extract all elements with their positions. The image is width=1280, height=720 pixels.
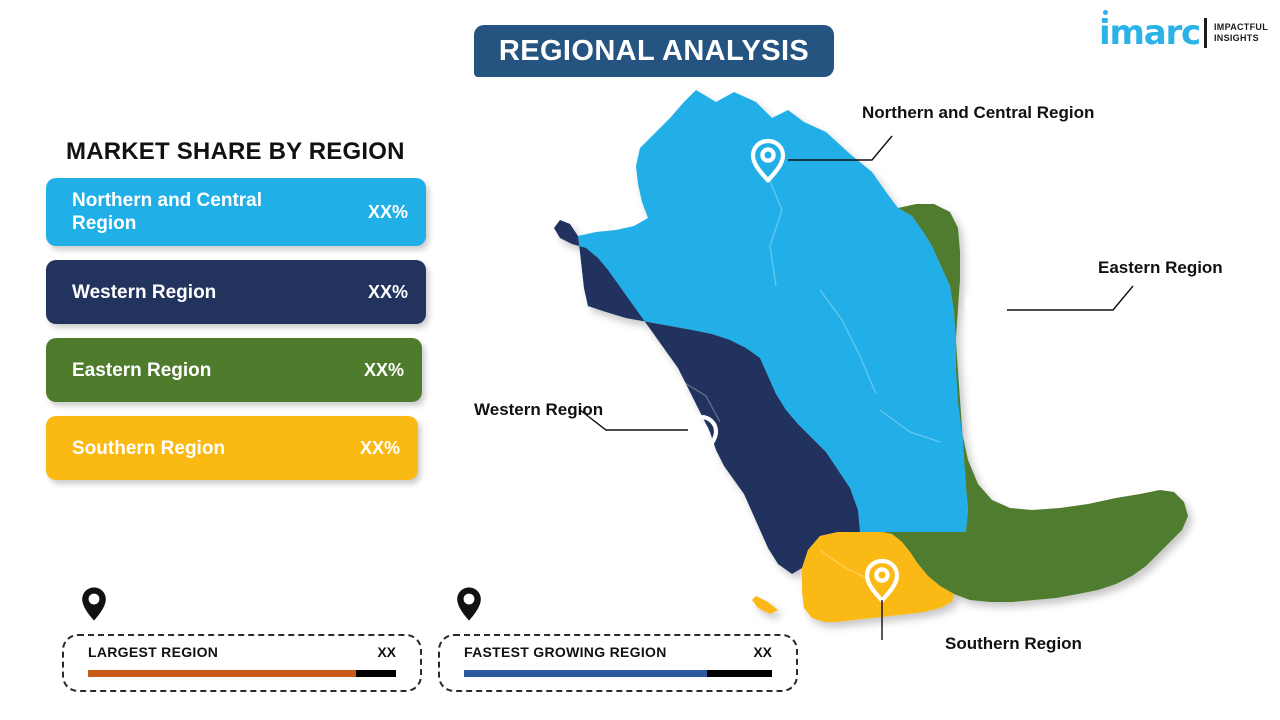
logo-dot-icon	[1103, 10, 1108, 15]
map-label-western: Western Region	[474, 400, 603, 420]
largest-region-progress-track	[88, 670, 396, 677]
legend-value: XX%	[368, 202, 408, 223]
fastest-region-row: FASTEST GROWING REGION XX	[464, 644, 772, 660]
map-label-eastern: Eastern Region	[1098, 258, 1223, 278]
fastest-region-value: XX	[753, 644, 772, 660]
fastest-region-progress-track	[464, 670, 772, 677]
legend-bar-northern-and-central[interactable]: Northern and Central Region XX%	[46, 178, 426, 246]
legend-label: Southern Region	[72, 437, 225, 460]
regional-map	[520, 80, 1220, 640]
logo-tagline-line2: INSIGHTS	[1214, 33, 1268, 44]
logo-tagline-line1: IMPACTFUL	[1214, 22, 1268, 33]
legend-value: XX%	[364, 360, 404, 381]
map-label-southern: Southern Region	[945, 634, 1082, 654]
fastest-region-card: FASTEST GROWING REGION XX	[438, 634, 798, 692]
logo-divider	[1204, 18, 1207, 48]
legend-label: Western Region	[72, 281, 216, 304]
leader-line-eastern	[1007, 286, 1133, 310]
legend-label: Northern and Central Region	[72, 189, 322, 235]
largest-region-card: LARGEST REGION XX	[62, 634, 422, 692]
map-regions	[554, 90, 1188, 622]
logo-wordmark-text: imarc	[1099, 13, 1200, 53]
fastest-region-title: FASTEST GROWING REGION	[464, 644, 667, 660]
logo-wordmark: imarc	[1099, 16, 1200, 50]
market-share-heading: MARKET SHARE BY REGION	[66, 138, 405, 166]
legend-bar-southern[interactable]: Southern Region XX%	[46, 416, 418, 480]
page-title: REGIONAL ANALYSIS	[499, 35, 809, 68]
legend-label: Eastern Region	[72, 359, 211, 382]
map-pin-western[interactable]	[686, 417, 716, 457]
logo-tagline: IMPACTFUL INSIGHTS	[1214, 22, 1268, 44]
largest-region-progress-fill	[88, 670, 356, 677]
page-title-banner: REGIONAL ANALYSIS	[474, 25, 834, 77]
map-pin-eastern[interactable]	[967, 289, 997, 329]
largest-region-row: LARGEST REGION XX	[88, 644, 396, 660]
imarc-logo: imarc IMPACTFUL INSIGHTS	[1099, 14, 1268, 52]
market-share-legend: Northern and Central Region XX% Western …	[46, 178, 436, 494]
legend-bar-western[interactable]: Western Region XX%	[46, 260, 426, 324]
legend-bar-eastern[interactable]: Eastern Region XX%	[46, 338, 422, 402]
legend-value: XX%	[360, 438, 400, 459]
largest-region-pin-icon	[80, 586, 108, 622]
largest-region-value: XX	[377, 644, 396, 660]
map-label-northern-and-central: Northern and Central Region	[862, 103, 1094, 123]
largest-region-title: LARGEST REGION	[88, 644, 218, 660]
map-islet	[752, 596, 778, 614]
fastest-region-pin-icon	[455, 586, 483, 622]
legend-value: XX%	[368, 282, 408, 303]
fastest-region-progress-fill	[464, 670, 707, 677]
